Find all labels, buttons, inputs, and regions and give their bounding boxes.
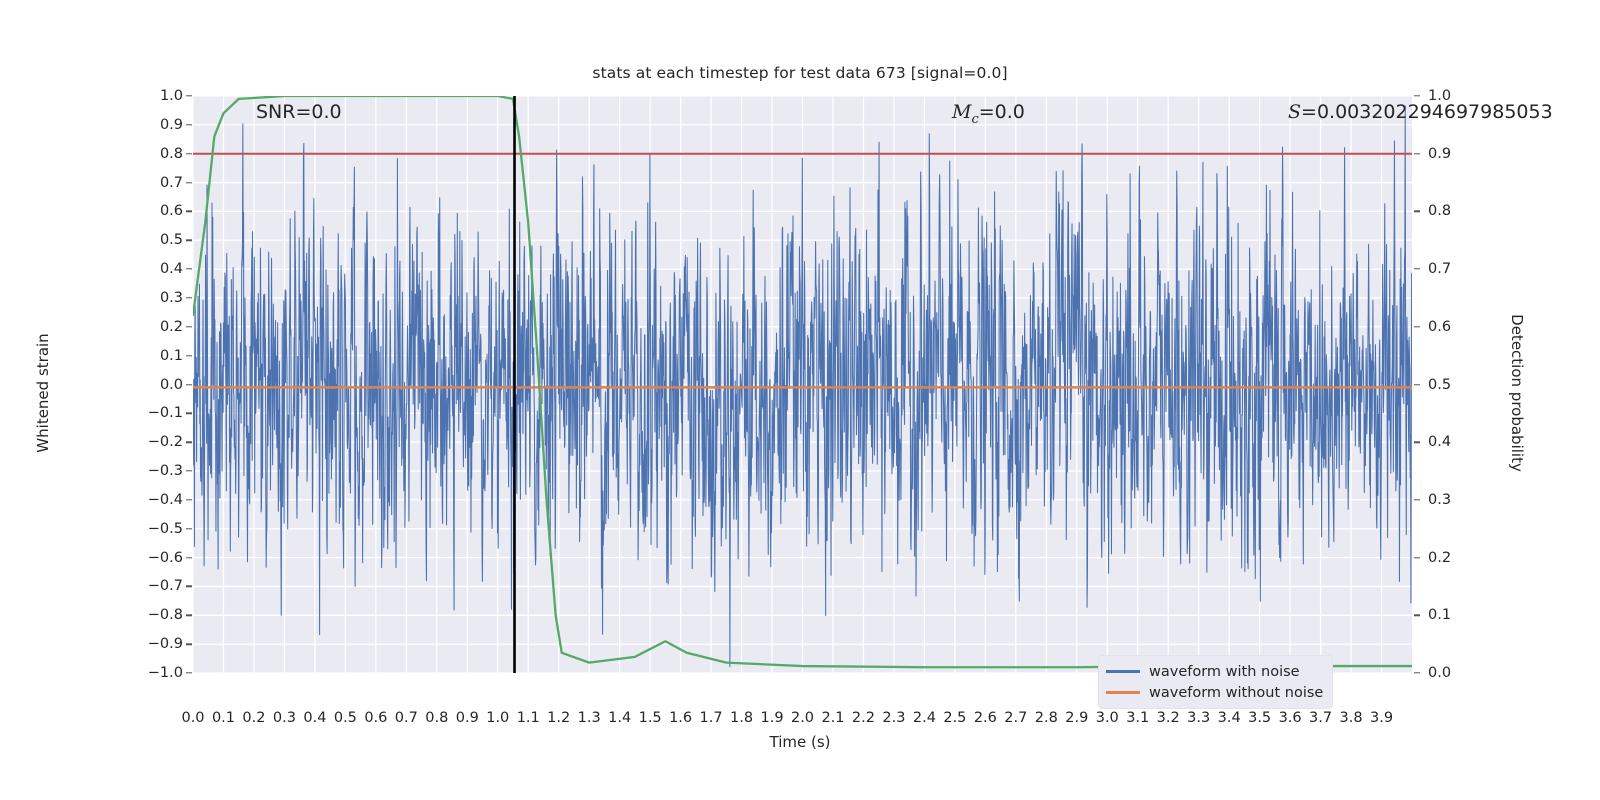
x-tick-label: 2.1 xyxy=(821,710,844,726)
plot-svg xyxy=(193,96,1412,673)
x-tick-label: 0.4 xyxy=(303,710,326,726)
y-tick-label-left: −0.7 xyxy=(131,578,183,594)
x-tick-label: 3.2 xyxy=(1157,710,1180,726)
y-tick-label-left: −0.3 xyxy=(131,463,183,479)
y-tick-mark-right xyxy=(1414,557,1420,558)
y-tick-label-right: 0.7 xyxy=(1428,261,1488,277)
y-tick-mark-left xyxy=(186,240,192,241)
y-tick-mark-left xyxy=(186,643,192,644)
x-tick-label: 1.6 xyxy=(669,710,692,726)
y-tick-label-right: 0.6 xyxy=(1428,319,1488,335)
y-tick-mark-left xyxy=(186,672,192,673)
x-tick-label: 2.3 xyxy=(882,710,905,726)
chirp-mass-value: =0.0 xyxy=(979,101,1025,123)
x-tick-label: 2.9 xyxy=(1065,710,1088,726)
y-tick-mark-right xyxy=(1414,268,1420,269)
x-tick-label: 0.0 xyxy=(181,710,204,726)
y-tick-label-left: −0.5 xyxy=(131,521,183,537)
x-tick-label: 0.7 xyxy=(395,710,418,726)
y-tick-mark-right xyxy=(1414,499,1420,500)
legend-item-waveform-with-noise[interactable]: waveform with noise xyxy=(1106,661,1323,682)
x-tick-label: 2.4 xyxy=(913,710,936,726)
legend-item-waveform-without-noise[interactable]: waveform without noise xyxy=(1106,682,1323,703)
y-tick-mark-right xyxy=(1414,672,1420,673)
y-tick-label-left: −0.4 xyxy=(131,492,183,508)
score-value: =0.003202294697985053 xyxy=(1301,101,1553,123)
legend-label-waveform-without-noise: waveform without noise xyxy=(1149,685,1323,701)
y-tick-mark-left xyxy=(186,384,192,385)
y-tick-label-left: 0.3 xyxy=(131,290,183,306)
x-tick-label: 2.8 xyxy=(1035,710,1058,726)
figure-canvas: stats at each timestep for test data 673… xyxy=(0,0,1600,800)
y-tick-label-right: 0.3 xyxy=(1428,492,1488,508)
y-tick-label-left: 0.0 xyxy=(131,377,183,393)
y-tick-label-left: 0.8 xyxy=(131,146,183,162)
x-tick-label: 1.5 xyxy=(639,710,662,726)
y-tick-label-right: 0.8 xyxy=(1428,203,1488,219)
y-tick-mark-left xyxy=(186,153,192,154)
y-tick-label-right: 0.1 xyxy=(1428,607,1488,623)
x-tick-label: 0.8 xyxy=(425,710,448,726)
legend-swatch-orange xyxy=(1106,691,1140,693)
y-axis-label-left: Whitened strain xyxy=(34,273,52,513)
y-tick-label-left: 0.9 xyxy=(131,117,183,133)
y-tick-label-right: 0.2 xyxy=(1428,550,1488,566)
y-tick-mark-left xyxy=(186,268,192,269)
x-tick-label: 3.5 xyxy=(1248,710,1271,726)
x-tick-label: 0.1 xyxy=(212,710,235,726)
x-tick-label: 0.9 xyxy=(456,710,479,726)
annotation-score: S=0.003202294697985053 xyxy=(1288,101,1553,123)
y-tick-mark-left xyxy=(186,124,192,125)
y-tick-mark-left xyxy=(186,441,192,442)
y-tick-mark-left xyxy=(186,182,192,183)
y-tick-label-right: 0.9 xyxy=(1428,146,1488,162)
x-tick-label: 2.7 xyxy=(1004,710,1027,726)
y-tick-mark-left xyxy=(186,95,192,96)
y-tick-mark-right xyxy=(1414,615,1420,616)
x-tick-label: 2.5 xyxy=(943,710,966,726)
y-tick-label-left: −0.8 xyxy=(131,607,183,623)
x-tick-label: 1.2 xyxy=(547,710,570,726)
x-tick-label: 2.6 xyxy=(974,710,997,726)
legend-label-waveform-with-noise: waveform with noise xyxy=(1149,664,1300,680)
chirp-mass-symbol: M xyxy=(952,101,971,123)
x-tick-label: 1.1 xyxy=(517,710,540,726)
y-tick-label-left: 0.6 xyxy=(131,203,183,219)
x-tick-label: 1.9 xyxy=(760,710,783,726)
y-tick-mark-right xyxy=(1414,326,1420,327)
y-tick-mark-right xyxy=(1414,441,1420,442)
y-tick-label-left: 0.2 xyxy=(131,319,183,335)
y-tick-label-left: −0.1 xyxy=(131,405,183,421)
x-tick-label: 0.3 xyxy=(273,710,296,726)
x-tick-label: 1.3 xyxy=(578,710,601,726)
y-tick-mark-left xyxy=(186,326,192,327)
legend-swatch-blue xyxy=(1106,670,1140,672)
y-axis-label-right: Detection probability xyxy=(1508,273,1526,513)
x-tick-label: 0.5 xyxy=(334,710,357,726)
y-tick-mark-left xyxy=(186,499,192,500)
y-tick-label-left: 0.5 xyxy=(131,232,183,248)
x-tick-label: 3.4 xyxy=(1218,710,1241,726)
x-tick-label: 3.6 xyxy=(1279,710,1302,726)
y-tick-label-left: −0.9 xyxy=(131,636,183,652)
y-tick-mark-right xyxy=(1414,384,1420,385)
x-tick-label: 1.8 xyxy=(730,710,753,726)
y-tick-mark-right xyxy=(1414,95,1420,96)
x-tick-label: 3.9 xyxy=(1370,710,1393,726)
x-tick-label: 3.3 xyxy=(1187,710,1210,726)
x-tick-label: 1.4 xyxy=(608,710,631,726)
y-tick-mark-left xyxy=(186,413,192,414)
y-tick-label-left: −0.6 xyxy=(131,550,183,566)
y-tick-label-left: −1.0 xyxy=(131,665,183,681)
y-tick-mark-left xyxy=(186,211,192,212)
annotation-snr: SNR=0.0 xyxy=(256,101,342,123)
x-tick-label: 3.1 xyxy=(1126,710,1149,726)
y-tick-label-left: −0.2 xyxy=(131,434,183,450)
chirp-mass-subscript: c xyxy=(971,112,978,127)
y-tick-mark-left xyxy=(186,557,192,558)
y-tick-label-left: 0.1 xyxy=(131,348,183,364)
x-tick-label: 1.7 xyxy=(700,710,723,726)
y-tick-mark-right xyxy=(1414,153,1420,154)
y-tick-label-left: 1.0 xyxy=(131,88,183,104)
x-tick-label: 0.2 xyxy=(242,710,265,726)
y-tick-mark-left xyxy=(186,355,192,356)
score-symbol: S xyxy=(1288,101,1301,123)
y-tick-label-right: 0.0 xyxy=(1428,665,1488,681)
y-tick-label-left: 0.7 xyxy=(131,175,183,191)
y-tick-mark-left xyxy=(186,297,192,298)
x-tick-label: 3.0 xyxy=(1096,710,1119,726)
y-tick-mark-left xyxy=(186,528,192,529)
y-tick-mark-left xyxy=(186,586,192,587)
chart-title: stats at each timestep for test data 673… xyxy=(0,64,1600,82)
x-tick-label: 2.2 xyxy=(852,710,875,726)
y-tick-mark-left xyxy=(186,470,192,471)
annotation-chirp-mass: Mc=0.0 xyxy=(952,101,1025,127)
y-tick-label-left: 0.4 xyxy=(131,261,183,277)
x-tick-label: 3.8 xyxy=(1340,710,1363,726)
x-axis-label: Time (s) xyxy=(0,733,1600,751)
x-tick-label: 1.0 xyxy=(486,710,509,726)
legend[interactable]: waveform with noise waveform without noi… xyxy=(1098,655,1333,709)
y-tick-mark-left xyxy=(186,615,192,616)
x-tick-label: 3.7 xyxy=(1309,710,1332,726)
y-tick-label-right: 0.4 xyxy=(1428,434,1488,450)
y-tick-label-right: 0.5 xyxy=(1428,377,1488,393)
x-tick-label: 0.6 xyxy=(364,710,387,726)
x-tick-label: 2.0 xyxy=(791,710,814,726)
plot-area[interactable] xyxy=(193,96,1412,673)
y-tick-mark-right xyxy=(1414,211,1420,212)
